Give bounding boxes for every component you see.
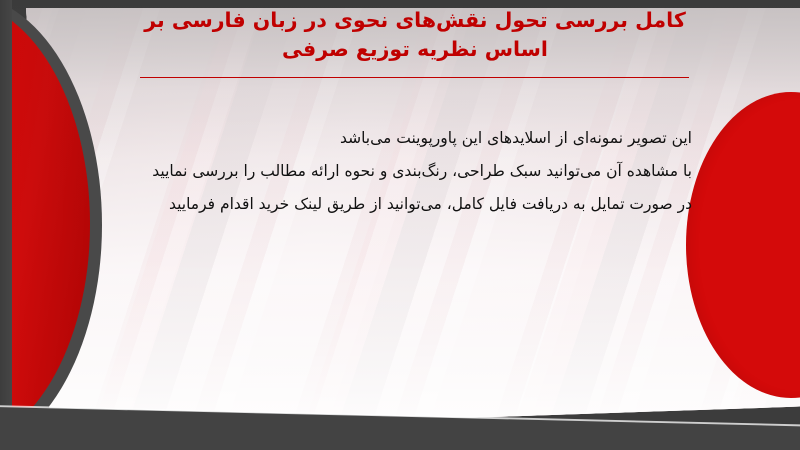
- red-ellipse-right-decoration: [686, 92, 800, 398]
- panel-bottom-gradient-overlay: [26, 262, 800, 432]
- slide-title-line-1: کامل بررسی تحول نقش‌های نحوی در زبان فار…: [120, 6, 710, 35]
- presentation-slide: کامل بررسی تحول نقش‌های نحوی در زبان فار…: [0, 0, 800, 450]
- slide-title: کامل بررسی تحول نقش‌های نحوی در زبان فار…: [120, 6, 710, 64]
- left-edge-frame-strip: [0, 0, 12, 450]
- body-line-2: با مشاهده آن می‌توانید سبک طراحی، رنگ‌بن…: [152, 155, 692, 188]
- slide-title-line-2: اساس نظریه توزیع صرفی: [120, 35, 710, 64]
- body-line-3: در صورت تمایل به دریافت فایل کامل، می‌تو…: [152, 188, 692, 221]
- slide-body-text: این تصویر نمونه‌ای از اسلایدهای این پاور…: [152, 122, 692, 221]
- body-line-1: این تصویر نمونه‌ای از اسلایدهای این پاور…: [152, 122, 692, 155]
- title-divider-rule: [140, 77, 689, 78]
